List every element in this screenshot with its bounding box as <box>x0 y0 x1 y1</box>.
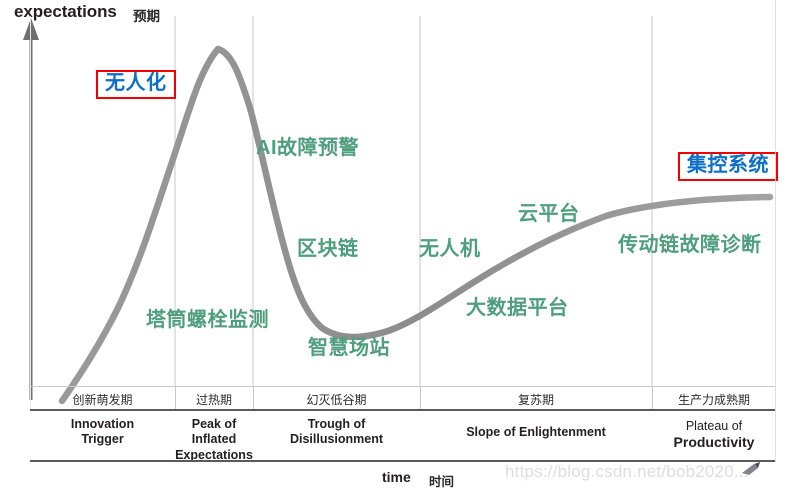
stage-en-slope-of-enlightenment: Slope of Enlightenment <box>420 425 652 440</box>
stage-cn-slope-of-enlightenment: 复苏期 <box>420 391 652 408</box>
stage-cn-innovation-trigger: 创新萌发期 <box>30 391 175 408</box>
annotation-drivetrain-fault-diagnosis[interactable]: 传动链故障诊断 <box>618 228 762 257</box>
stage-en-line: Productivity <box>652 434 776 451</box>
stage-en-peak-of-inflated-expectations: Peak of Inflated Expectations <box>175 417 253 463</box>
stage-en-line: Inflated <box>175 432 253 447</box>
y-axis <box>23 18 39 400</box>
stage-separator-1 <box>175 386 176 410</box>
stage-band-chinese: 创新萌发期 过热期 幻灭低谷期 复苏期 生产力成熟期 <box>30 386 776 411</box>
watermark-logo-icon <box>740 460 766 478</box>
annotation-big-data-platform[interactable]: 大数据平台 <box>466 291 569 320</box>
stage-en-line: Trigger <box>30 432 175 447</box>
stage-en-trough-of-disillusionment: Trough of Disillusionment <box>253 417 420 448</box>
watermark-text: https://blog.csdn.net/bob2020... <box>505 462 749 482</box>
hype-cycle-chart: expectations 预期 <box>0 0 792 491</box>
plot-right-border <box>775 0 776 462</box>
stage-separator-4 <box>652 386 653 410</box>
annotation-centralized-control-system[interactable]: 集控系统 <box>678 152 778 181</box>
annotation-wurenhua[interactable]: 无人化 <box>96 70 176 99</box>
stage-en-line: Trough of <box>253 417 420 432</box>
annotation-blockchain[interactable]: 区块链 <box>297 232 359 261</box>
stage-cn-plateau-of-productivity: 生产力成熟期 <box>652 391 776 408</box>
stage-cn-trough-of-disillusionment: 幻灭低谷期 <box>253 391 420 408</box>
stage-separator-2 <box>253 386 254 410</box>
x-axis-title-cn: 时间 <box>429 471 454 490</box>
annotation-tower-bolt-monitoring[interactable]: 塔筒螺栓监测 <box>146 303 269 332</box>
annotation-cloud-platform[interactable]: 云平台 <box>518 197 580 226</box>
stage-en-line: Peak of <box>175 417 253 432</box>
hype-curve <box>62 49 770 401</box>
stage-separator-3 <box>420 386 421 410</box>
stage-band-english: Innovation Trigger Peak of Inflated Expe… <box>30 411 776 461</box>
annotation-ai-fault-warning[interactable]: AI故障预警 <box>256 131 359 160</box>
stage-en-line: Slope of Enlightenment <box>420 425 652 440</box>
stage-en-line: Innovation <box>30 417 175 432</box>
annotation-smart-station[interactable]: 智慧场站 <box>308 331 390 360</box>
stage-cn-peak-of-inflated-expectations: 过热期 <box>175 391 253 408</box>
stage-en-innovation-trigger: Innovation Trigger <box>30 417 175 448</box>
stage-en-line: Plateau of <box>652 419 776 434</box>
annotation-drone[interactable]: 无人机 <box>419 232 481 261</box>
stage-en-plateau-of-productivity: Plateau of Productivity <box>652 419 776 451</box>
plot-left-border <box>30 16 31 410</box>
x-axis-title: time <box>382 469 411 485</box>
stage-en-line: Disillusionment <box>253 432 420 447</box>
